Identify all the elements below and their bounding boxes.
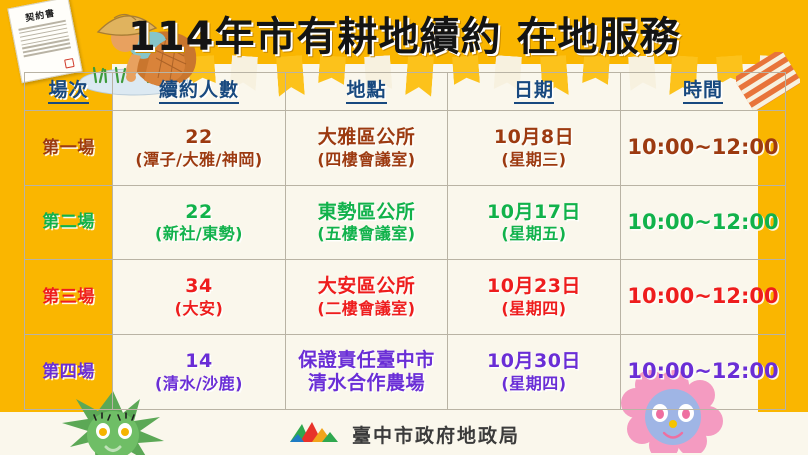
cell-count: 22 (新社/東勢) <box>113 186 286 261</box>
footer-org-name: 臺中市政府地政局 <box>352 421 520 448</box>
cell-time: 10:00~12:00 <box>621 335 785 410</box>
time-value: 10:00~12:00 <box>627 359 778 384</box>
time-value: 10:00~12:00 <box>627 135 778 160</box>
count-value: 22 <box>185 126 212 148</box>
table-row: 第二場 22 (新社/東勢) 東勢區公所 (五樓會議室) 10月17日 (星期五… <box>25 186 785 261</box>
table-header-count: 續約人數 <box>113 73 286 111</box>
session-label: 第一場 <box>42 138 95 158</box>
place-note: 清水合作農場 <box>308 372 425 394</box>
place-note: (五樓會議室) <box>317 225 415 244</box>
count-value: 34 <box>185 275 212 297</box>
session-label: 第二場 <box>42 212 95 232</box>
cell-place: 大安區公所 (二樓會議室) <box>286 260 448 335</box>
header-label: 地點 <box>346 79 386 104</box>
date-note: (星期五) <box>501 225 566 244</box>
count-note: (大安) <box>175 300 224 319</box>
cell-session: 第四場 <box>25 335 113 410</box>
table-header-place: 地點 <box>286 73 448 111</box>
count-note: (清水/沙鹿) <box>155 375 243 394</box>
time-value: 10:00~12:00 <box>627 284 778 309</box>
table-header-session: 場次 <box>25 73 113 111</box>
header-label: 時間 <box>683 79 723 104</box>
cell-session: 第一場 <box>25 111 113 186</box>
cell-count: 22 (潭子/大雅/神岡) <box>113 111 286 186</box>
cell-count: 14 (清水/沙鹿) <box>113 335 286 410</box>
count-note: (潭子/大雅/神岡) <box>135 151 262 170</box>
date-value: 10月23日 <box>487 275 581 297</box>
date-value: 10月17日 <box>487 201 581 223</box>
poster-root: 契約書 <box>0 0 808 455</box>
time-value: 10:00~12:00 <box>627 210 778 235</box>
place-note: (四樓會議室) <box>317 151 415 170</box>
table-header-date: 日期 <box>448 73 621 111</box>
place-value: 保證責任臺中市 <box>298 349 435 371</box>
cell-session: 第二場 <box>25 186 113 261</box>
session-label: 第四場 <box>42 362 95 382</box>
place-note: (二樓會議室) <box>317 300 415 319</box>
cell-place: 保證責任臺中市 清水合作農場 <box>286 335 448 410</box>
cell-time: 10:00~12:00 <box>621 111 785 186</box>
date-value: 10月8日 <box>494 126 574 148</box>
cell-time: 10:00~12:00 <box>621 186 785 261</box>
table-row: 第三場 34 (大安) 大安區公所 (二樓會議室) 10月23日 (星期四) 1… <box>25 260 785 335</box>
cell-date: 10月23日 (星期四) <box>448 260 621 335</box>
cell-place: 大雅區公所 (四樓會議室) <box>286 111 448 186</box>
cell-date: 10月30日 (星期四) <box>448 335 621 410</box>
cell-time: 10:00~12:00 <box>621 260 785 335</box>
date-note: (星期三) <box>501 151 566 170</box>
footer: 臺中市政府地政局 <box>0 417 808 451</box>
cell-count: 34 (大安) <box>113 260 286 335</box>
cell-session: 第三場 <box>25 260 113 335</box>
count-note: (新社/東勢) <box>155 225 243 244</box>
date-value: 10月30日 <box>487 350 581 372</box>
date-note: (星期四) <box>501 300 566 319</box>
place-value: 大雅區公所 <box>318 126 416 148</box>
table-header-time: 時間 <box>621 73 785 111</box>
taichung-mountain-logo-icon <box>288 418 344 450</box>
place-value: 東勢區公所 <box>318 201 416 223</box>
count-value: 22 <box>185 201 212 223</box>
count-value: 14 <box>185 350 212 372</box>
header-label: 日期 <box>514 79 554 104</box>
table-row: 第四場 14 (清水/沙鹿) 保證責任臺中市 清水合作農場 10月30日 (星期… <box>25 335 785 410</box>
table-header-row: 場次 續約人數 地點 日期 時間 <box>25 73 785 111</box>
cell-date: 10月8日 (星期三) <box>448 111 621 186</box>
session-label: 第三場 <box>42 287 95 307</box>
header-label: 場次 <box>48 79 88 104</box>
date-note: (星期四) <box>501 375 566 394</box>
table-row: 第一場 22 (潭子/大雅/神岡) 大雅區公所 (四樓會議室) 10月8日 (星… <box>25 111 785 186</box>
schedule-table: 場次 續約人數 地點 日期 時間 第一場 22 (潭子/大雅/神岡) <box>24 72 786 410</box>
cell-place: 東勢區公所 (五樓會議室) <box>286 186 448 261</box>
header-label: 續約人數 <box>159 79 239 104</box>
cell-date: 10月17日 (星期五) <box>448 186 621 261</box>
place-value: 大安區公所 <box>318 275 416 297</box>
page-title: 114年市有耕地續約 在地服務 <box>128 4 798 62</box>
